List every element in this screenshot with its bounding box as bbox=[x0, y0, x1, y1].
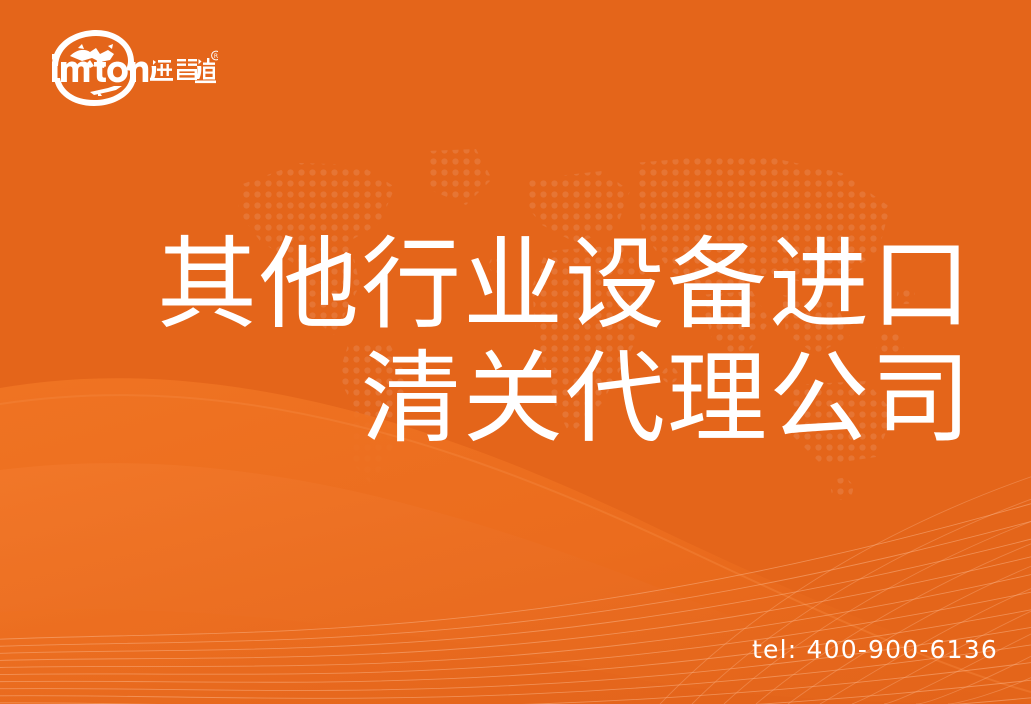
contact-phone[interactable]: tel: 400-900-6136 bbox=[752, 635, 998, 664]
logo-chinese-characters bbox=[150, 58, 216, 83]
registered-trademark-icon: R bbox=[212, 51, 218, 60]
headline-line-1: 其他行业设备进口 bbox=[0, 228, 973, 342]
company-logo[interactable]: R bbox=[38, 28, 218, 108]
page-title: 其他行业设备进口 清关代理公司 bbox=[0, 228, 973, 456]
svg-text:R: R bbox=[214, 53, 218, 60]
headline-line-2: 清关代理公司 bbox=[0, 342, 973, 456]
world-map-continents-icon bbox=[70, 48, 114, 62]
promo-banner: R 其他行业设备进口 清关代理公司 tel: 400-900-6136 bbox=[0, 0, 1031, 704]
